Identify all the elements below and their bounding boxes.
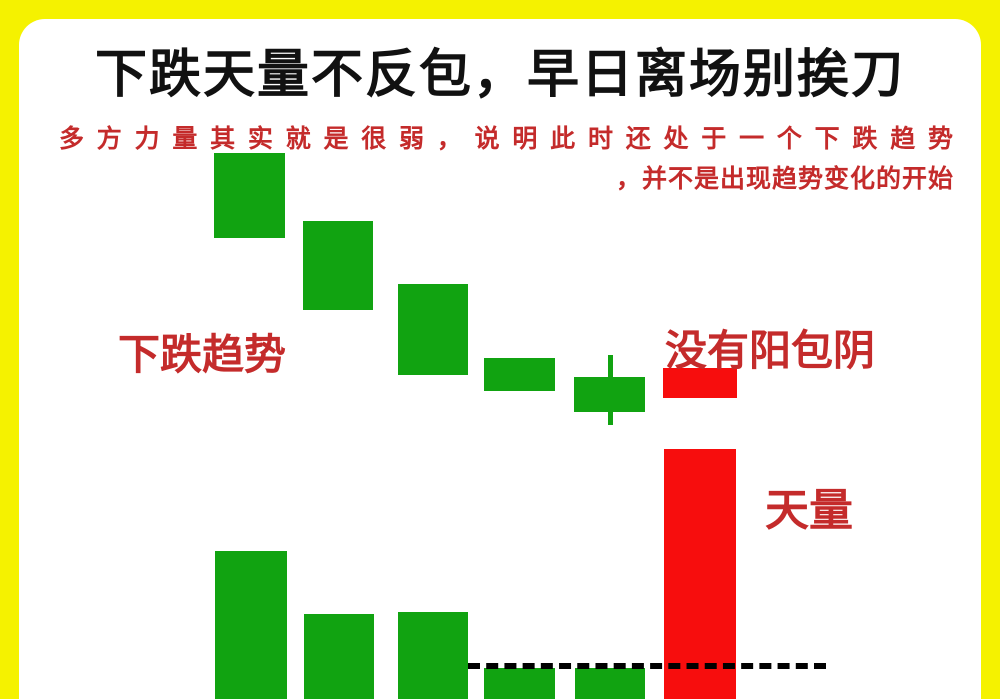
candle-body-bullish [398,284,468,375]
candle-body-bullish [484,358,555,391]
volume-bar-bullish [304,614,374,699]
volume-bar-bullish [215,551,287,699]
candle-body-bullish [574,377,645,412]
volume-bar-bullish [398,612,468,699]
white-card: 下跌天量不反包，早日离场别挨刀 多方力量其实就是很弱，说明此时还处于一个下跌趋势… [19,19,981,699]
poster-frame: 下跌天量不反包，早日离场别挨刀 多方力量其实就是很弱，说明此时还处于一个下跌趋势… [0,0,1000,699]
annotation-huge-volume: 天量 [765,474,853,538]
volume-bar-bullish [484,668,555,699]
candle-body-bullish [303,221,373,310]
candle-body-bullish [214,153,285,238]
annotation-no-bullish-engulfing: 没有阳包阴 [665,317,875,378]
volume-bar-bullish [575,668,645,699]
volume-bar-bearish [664,449,736,699]
volume-baseline [468,663,826,669]
annotation-downtrend: 下跌趋势 [118,321,286,382]
